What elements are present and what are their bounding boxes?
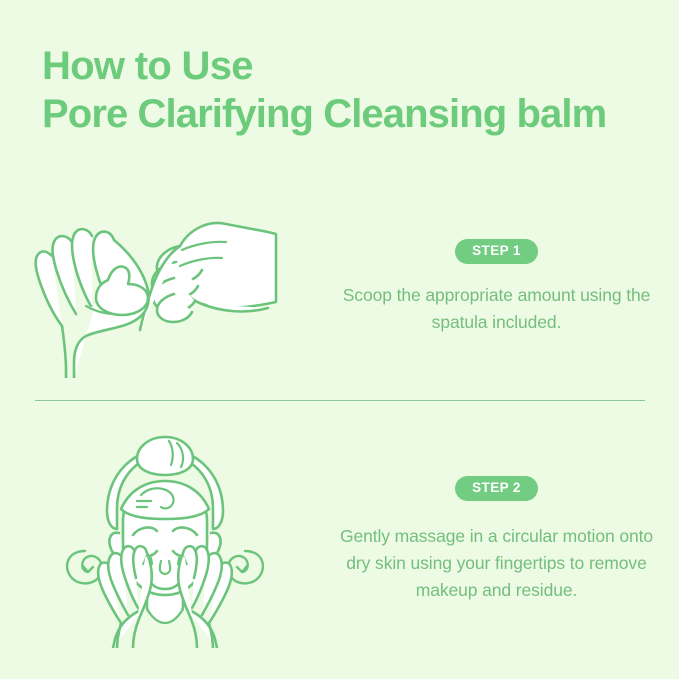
- how-to-use-infographic: How to Use Pore Clarifying Cleansing bal…: [0, 0, 679, 679]
- step-1-description: Scoop the appropriate amount using the s…: [332, 282, 662, 336]
- step-2-illustration: [0, 433, 330, 648]
- woman-massaging-face-icon: [55, 433, 275, 648]
- step-2-description: Gently massage in a circular motion onto…: [332, 523, 662, 604]
- step-2-badge: STEP 2: [455, 476, 538, 501]
- step-1-illustration: [0, 198, 330, 378]
- swirl-left-icon: [67, 551, 102, 583]
- title-line-2: Pore Clarifying Cleansing balm: [42, 90, 652, 138]
- page-title: How to Use Pore Clarifying Cleansing bal…: [42, 42, 652, 138]
- step-row-1: STEP 1 Scoop the appropriate amount usin…: [0, 190, 679, 385]
- step-2-text-block: STEP 2 Gently massage in a circular moti…: [330, 476, 679, 604]
- swirl-right-icon: [228, 551, 263, 583]
- title-line-1: How to Use: [42, 42, 652, 90]
- step-1-text-block: STEP 1 Scoop the appropriate amount usin…: [330, 239, 679, 336]
- section-divider: [35, 400, 645, 401]
- hands-with-balm-and-spatula-icon: [30, 198, 300, 378]
- step-row-2: STEP 2 Gently massage in a circular moti…: [0, 425, 679, 655]
- step-1-badge: STEP 1: [455, 239, 538, 264]
